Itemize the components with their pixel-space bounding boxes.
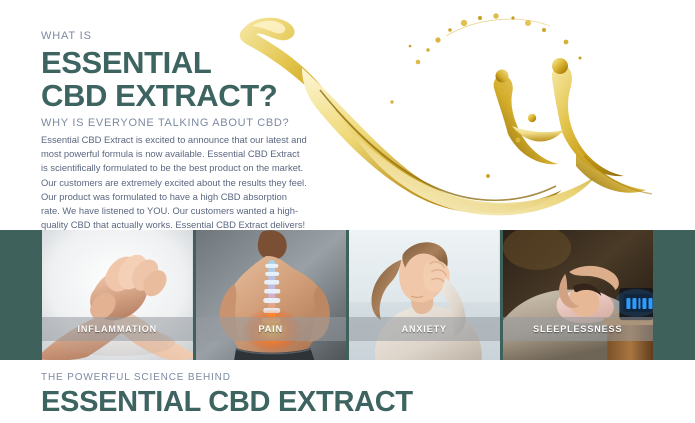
tile-label-bar: PAIN (196, 317, 347, 341)
benefit-label-sleeplessness: SLEEPLESSNESS (533, 324, 622, 334)
hero-section: WHAT IS ESSENTIAL CBD EXTRACT? WHY IS EV… (0, 0, 695, 230)
tile-label-bar: SLEEPLESSNESS (503, 317, 654, 341)
science-section: THE POWERFUL SCIENCE BEHIND ESSENTIAL CB… (0, 360, 695, 423)
benefit-label-inflammation: INFLAMMATION (77, 324, 157, 334)
benefit-tile-anxiety[interactable]: ANXIETY (349, 230, 500, 360)
science-kicker: THE POWERFUL SCIENCE BEHIND (41, 372, 231, 383)
benefit-tile-sleeplessness[interactable]: SLEEPLESSNESS (503, 230, 654, 360)
benefit-tile-inflammation[interactable]: INFLAMMATION (42, 230, 193, 360)
hero-subheadline: WHY IS EVERYONE TALKING ABOUT CBD? (41, 117, 316, 129)
cbd-landing-page: WHAT IS ESSENTIAL CBD EXTRACT? WHY IS EV… (0, 0, 695, 423)
hero-kicker: WHAT IS (41, 29, 316, 43)
benefits-band: INFLAMMATION (0, 230, 695, 360)
page-title: ESSENTIAL CBD EXTRACT? (41, 46, 316, 112)
benefit-label-anxiety: ANXIETY (402, 324, 447, 334)
hero-copy-block: WHAT IS ESSENTIAL CBD EXTRACT? WHY IS EV… (41, 29, 316, 129)
headline-line-2: CBD EXTRACT? (41, 78, 277, 113)
benefit-tiles-row: INFLAMMATION (42, 230, 653, 360)
science-title: ESSENTIAL CBD EXTRACT (41, 386, 413, 418)
tile-label-bar: ANXIETY (349, 317, 500, 341)
benefit-tile-pain[interactable]: PAIN (196, 230, 347, 360)
tile-label-bar: INFLAMMATION (42, 317, 193, 341)
headline-line-1: ESSENTIAL (41, 45, 211, 80)
benefit-label-pain: PAIN (259, 324, 283, 334)
hero-body-paragraph: Essential CBD Extract is excited to anno… (41, 133, 307, 230)
